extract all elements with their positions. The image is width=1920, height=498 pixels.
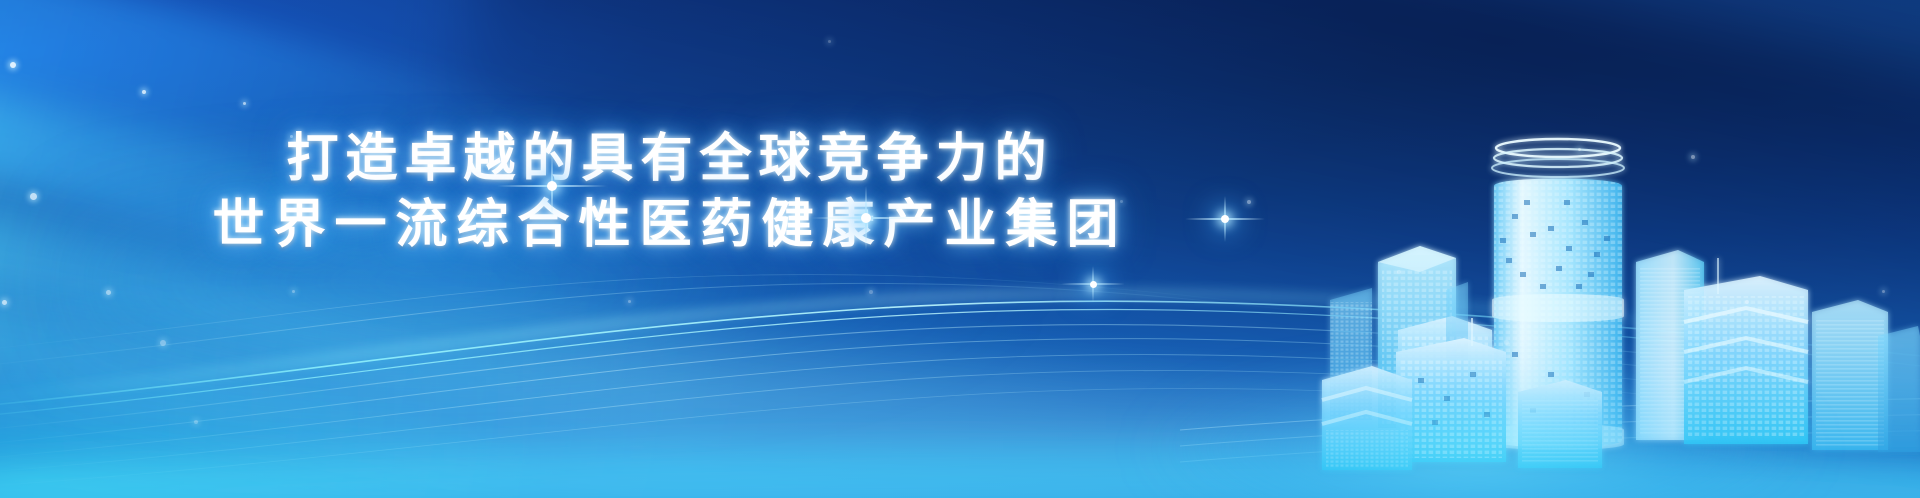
background-gradient bbox=[0, 0, 1920, 498]
hero-banner: 打造卓越的具有全球竞争力的 世界一流综合性医药健康产业集团 bbox=[0, 0, 1920, 498]
